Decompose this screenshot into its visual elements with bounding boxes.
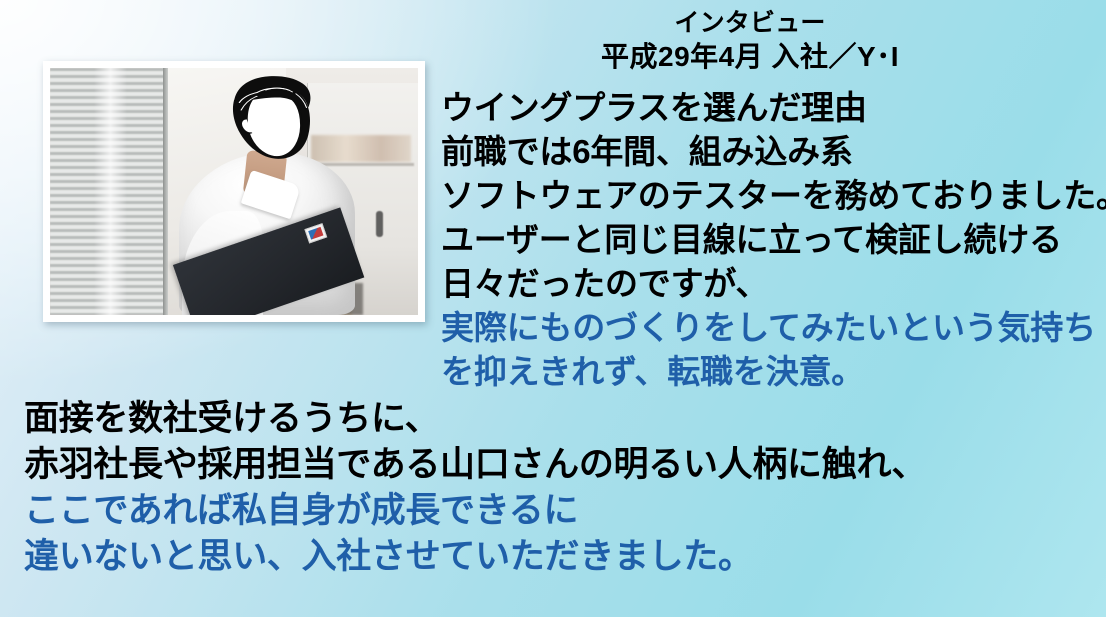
bottom-line-2: 赤羽社長や採用担当である山口さんの明るい人柄に触れ、 bbox=[24, 442, 1094, 488]
interview-body-text: ウイングプラスを選んだ理由 前職では6年間、組み込み系 ソフトウェアのテスターを… bbox=[441, 86, 1101, 394]
bottom-line-3: ここであれば私自身が成長できるに bbox=[24, 488, 1094, 534]
body-line-1: ウイングプラスを選んだ理由 bbox=[441, 86, 1101, 130]
body-line-3: ソフトウェアのテスターを務めておりました。 bbox=[441, 174, 1101, 218]
blinds-light-glow bbox=[94, 68, 127, 315]
employee-photo-frame bbox=[43, 61, 425, 322]
interview-slide: インタビュー 平成29年4月 入社／Y･I bbox=[0, 0, 1106, 617]
employee-photo bbox=[50, 68, 418, 315]
body-line-2: 前職では6年間、組み込み系 bbox=[441, 130, 1101, 174]
anonymized-face-icon bbox=[227, 75, 315, 169]
body-line-6: 実際にものづくりをしてみたいという気持ち bbox=[441, 306, 1101, 350]
shelf-items bbox=[311, 135, 410, 162]
header-title: インタビュー bbox=[440, 8, 1060, 39]
body-line-4: ユーザーと同じ目線に立って検証し続ける bbox=[441, 218, 1101, 262]
folder-label-tag bbox=[305, 222, 328, 242]
cabinet-handle bbox=[376, 211, 383, 237]
body-line-7: を抑えきれず、転職を決意。 bbox=[441, 350, 1101, 394]
slide-header: インタビュー 平成29年4月 入社／Y･I bbox=[440, 8, 1060, 74]
body-line-5: 日々だったのですが、 bbox=[441, 262, 1101, 306]
interview-bottom-text: 面接を数社受けるうちに、 赤羽社長や採用担当である山口さんの明るい人柄に触れ、 … bbox=[24, 396, 1094, 580]
bottom-line-4: 違いないと思い、入社させていただきました。 bbox=[24, 534, 1094, 580]
bottom-line-1: 面接を数社受けるうちに、 bbox=[24, 396, 1094, 442]
header-subtitle: 平成29年4月 入社／Y･I bbox=[440, 39, 1060, 74]
